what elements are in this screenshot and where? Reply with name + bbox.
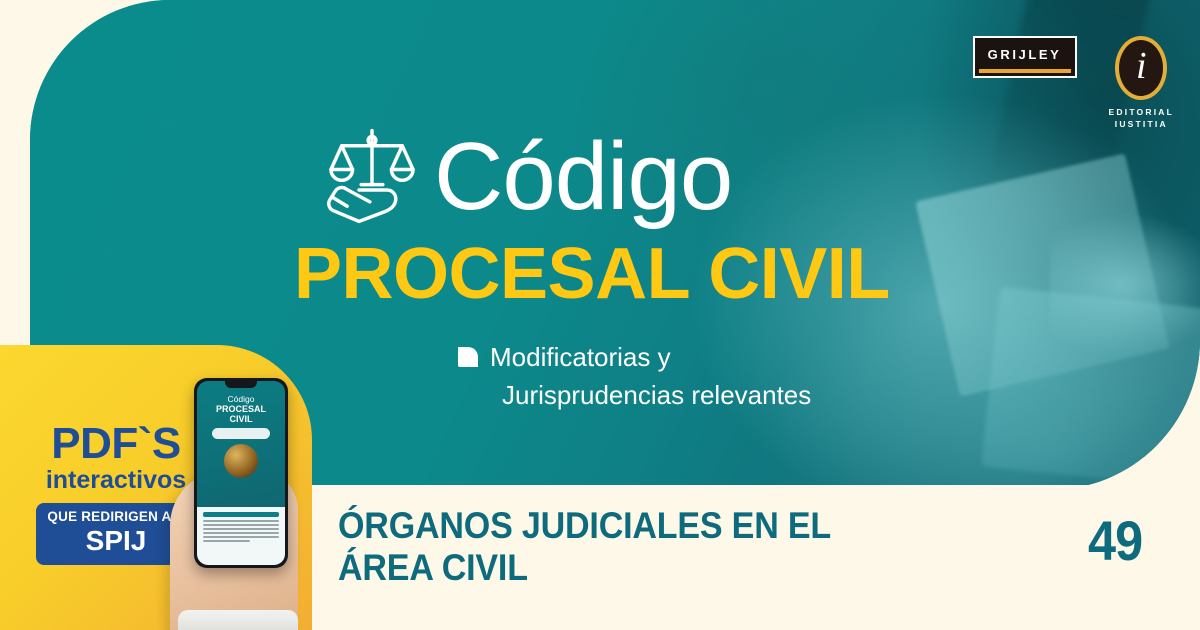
- hero-title-bold: PROCESAL CIVIL: [294, 238, 968, 310]
- iustitia-oval-badge: i: [1115, 36, 1167, 100]
- hero-title-light: Código: [434, 129, 732, 225]
- book-promo-banner: GRIJLEY i EDITORIAL IUSTITIA: [0, 0, 1200, 630]
- editorial-iustitia-logo[interactable]: i EDITORIAL IUSTITIA: [1109, 36, 1174, 131]
- phone-screen: Código PROCESAL CIVIL: [197, 381, 285, 565]
- grijley-logo-text: GRIJLEY: [988, 48, 1062, 61]
- hero-title-block: Código PROCESAL CIVIL Modificatorias y J…: [318, 118, 968, 415]
- phone-preview-text-line: [203, 532, 279, 534]
- shirt-sleeve: [178, 610, 298, 630]
- phone-preview-text-line: [203, 524, 279, 526]
- scales-of-justice-in-hand-icon: [318, 122, 426, 230]
- iustitia-logo-line1: EDITORIAL: [1109, 106, 1174, 118]
- hero-subtitle-line2: Jurisprudencias relevantes: [502, 376, 811, 414]
- phone-preview-text-line: [203, 528, 279, 530]
- phone-preview-text-line: [203, 520, 279, 522]
- smartphone-device[interactable]: Código PROCESAL CIVIL: [194, 378, 288, 568]
- phone-preview-codigo: Código: [204, 395, 278, 404]
- hand-holding-phone: Código PROCESAL CIVIL: [168, 378, 313, 630]
- spij-badge-line1: QUE REDIRIGEN AL:: [44, 510, 188, 525]
- iustitia-monogram-icon: i: [1136, 47, 1147, 85]
- page-number: 49: [1088, 508, 1142, 573]
- chapter-title: ÓRGANOS JUDICIALES EN EL ÁREA CIVIL: [338, 505, 927, 589]
- phone-preview-globe-icon: [224, 444, 258, 478]
- grijley-logo-accent-bar: [979, 69, 1071, 73]
- iustitia-logo-line2: IUSTITIA: [1109, 118, 1174, 130]
- phone-preview-content-area: [197, 507, 285, 565]
- phone-preview-title-line2: CIVIL: [204, 415, 278, 424]
- hero-title-row: Código: [318, 118, 968, 230]
- spij-badge-line2: SPIJ: [44, 526, 188, 555]
- phone-preview-text-line: [203, 536, 279, 538]
- iustitia-logo-text: EDITORIAL IUSTITIA: [1109, 106, 1174, 131]
- phone-preview-text-line: [203, 540, 250, 542]
- logo-group: GRIJLEY i EDITORIAL IUSTITIA: [973, 36, 1174, 131]
- leaf-bullet-icon: [458, 347, 478, 367]
- phone-preview-subtitle-pill: [212, 428, 270, 439]
- grijley-logo[interactable]: GRIJLEY: [973, 36, 1077, 78]
- phone-preview-highlight-bar: [203, 512, 279, 517]
- phone-preview-title-line1: PROCESAL: [204, 405, 278, 414]
- photo-hand-shape: [1050, 210, 1200, 360]
- phone-notch: [225, 381, 257, 388]
- hero-subtitle-lines: Modificatorias y Jurisprudencias relevan…: [490, 338, 811, 415]
- hero-subtitle-line1: Modificatorias y: [490, 338, 811, 376]
- hero-subtitle: Modificatorias y Jurisprudencias relevan…: [458, 338, 968, 415]
